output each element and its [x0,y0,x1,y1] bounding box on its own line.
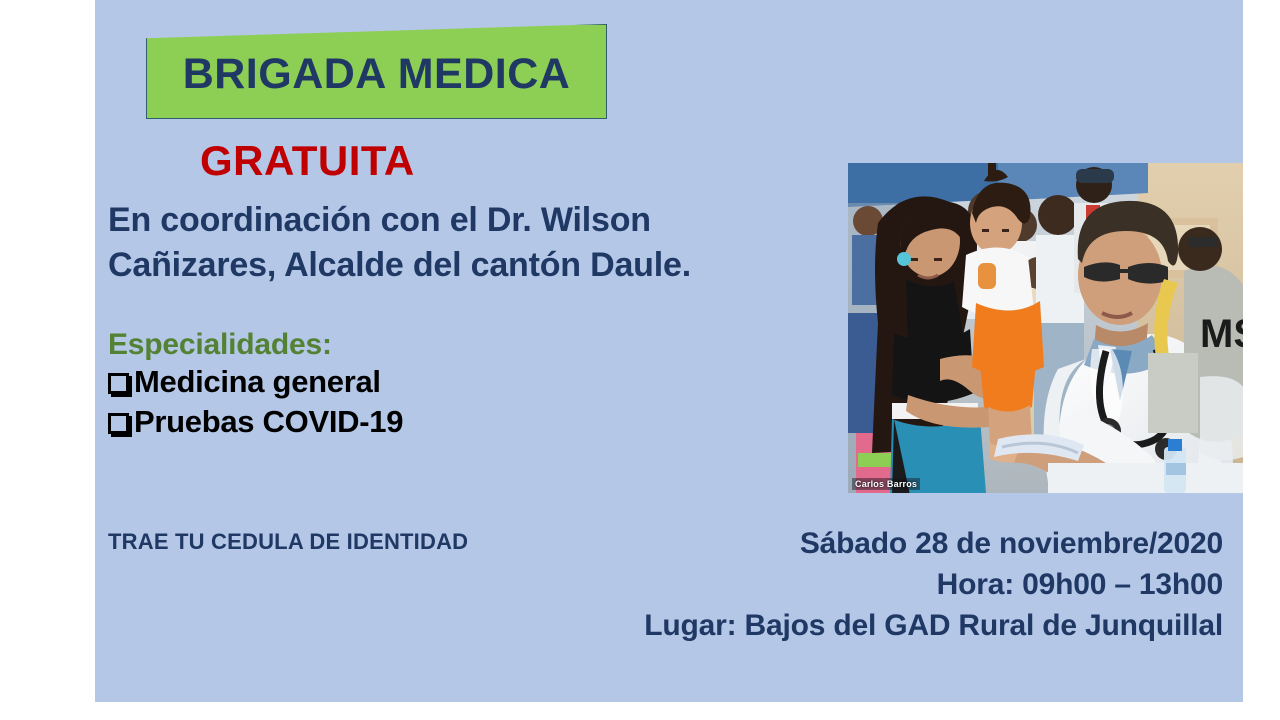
checkbox-square-icon [108,373,129,394]
specialties-title: Especialidades: [108,327,628,362]
specialties-block: Especialidades: Medicina general Pruebas… [108,327,628,441]
free-label: GRATUITA [200,140,415,182]
svg-text:MS: MS [1200,312,1243,356]
specialty-item: Medicina general [108,362,628,401]
event-details: Sábado 28 de noviembre/2020 Hora: 09h00 … [644,524,1223,646]
specialty-item-label: Pruebas COVID-19 [134,402,403,441]
coordination-line-2: Cañizares, Alcalde del cantón Daule. [108,243,898,288]
slide-area: BRIGADA MEDICA GRATUITA En coordinación … [95,0,1243,702]
event-time: Hora: 09h00 – 13h00 [644,565,1223,606]
photo-credit: Carlos Barros [852,478,920,490]
coordination-line-1: En coordinación con el Dr. Wilson [108,198,898,243]
checkbox-square-icon [108,413,129,434]
specialty-item: Pruebas COVID-19 [108,402,628,441]
specialty-item-label: Medicina general [134,362,381,401]
event-place: Lugar: Bajos del GAD Rural de Junquillal [644,606,1223,647]
poster-canvas: BRIGADA MEDICA GRATUITA En coordinación … [0,0,1280,720]
banner-brigada-medica: BRIGADA MEDICA [146,24,607,119]
bring-id-notice: TRAE TU CEDULA DE IDENTIDAD [108,531,468,553]
medical-brigade-photo: MS Carlos Barros [848,163,1243,493]
photo-illustration: MS [848,163,1243,493]
coordination-text: En coordinación con el Dr. Wilson Cañiza… [108,198,898,288]
event-date: Sábado 28 de noviembre/2020 [644,524,1223,565]
banner-title: BRIGADA MEDICA [147,47,606,96]
